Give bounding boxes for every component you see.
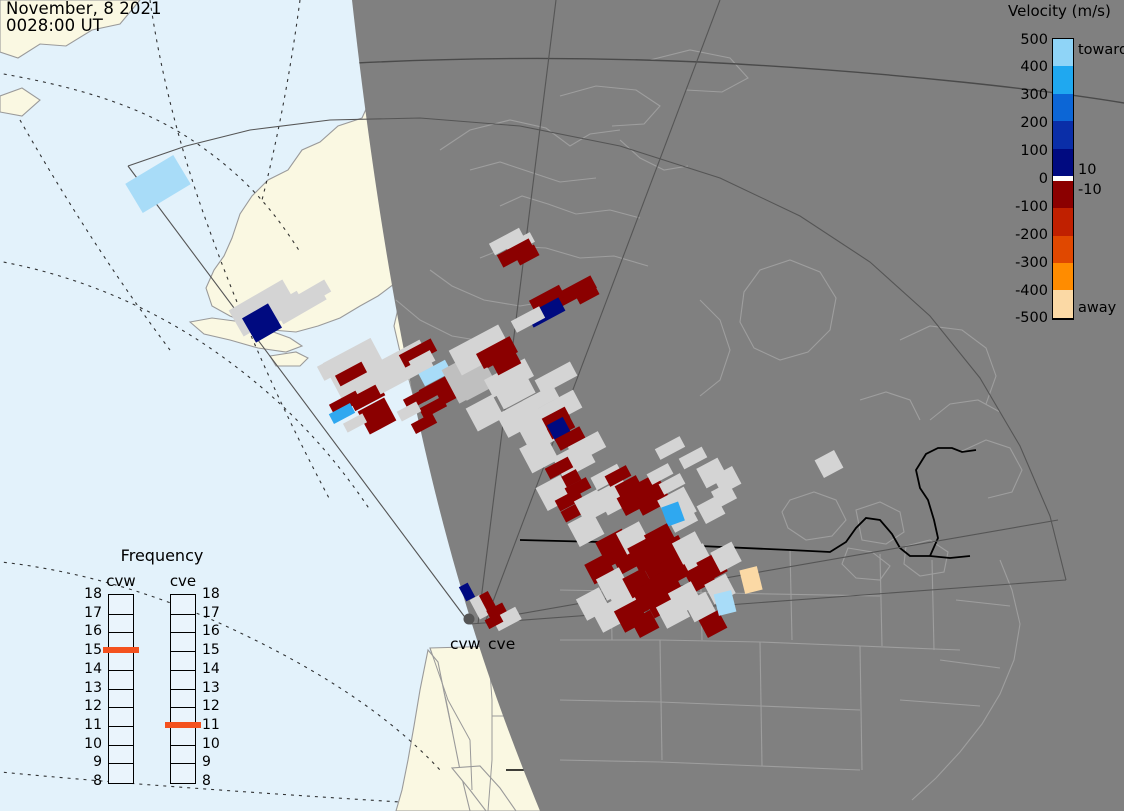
frequency-marker-cve [165,722,201,728]
frequency-tick-cve-14: 14 [202,661,220,677]
velocity-cell [815,450,844,478]
frequency-divider [171,689,195,690]
colorbar-away-label: away [1078,300,1116,316]
frequency-tick-cve-9: 9 [202,754,211,770]
colorbar-tick-500: 500 [988,32,1048,48]
radar-map-plot: November, 8 2021 0028:00 UT Velocity (m/… [0,0,1124,811]
frequency-tick-cvw-17: 17 [78,605,102,621]
velocity-cell [739,566,762,594]
plot-time: 0028:00 UT [6,18,162,35]
colorbar-tick--400: -400 [988,283,1048,299]
frequency-tick-cve-17: 17 [202,605,220,621]
colorbar-segment-toward-0 [1053,39,1073,67]
frequency-divider [109,726,133,727]
colorbar-segment-away-1 [1053,208,1073,236]
frequency-tick-cvw-16: 16 [78,623,102,639]
velocity-colorbar: Velocity (m/s) 5004003002001000-100-200-… [1000,0,1124,340]
frequency-tick-cvw-15: 15 [78,642,102,658]
colorbar-toward-label: toward [1078,42,1124,58]
frequency-tick-cve-11: 11 [202,717,220,733]
colorbar-segment-away-2 [1053,236,1073,264]
frequency-divider [109,689,133,690]
velocity-cell [511,306,545,333]
colorbar-tick-300: 300 [988,87,1048,103]
colorbar-negative-threshold-label: -10 [1078,182,1102,198]
colorbar-tick-0: 0 [988,171,1048,187]
frequency-tick-cvw-11: 11 [78,717,102,733]
frequency-label-cvw: cvw [98,572,144,590]
frequency-legend: Frequency cvw18171615141312111098cve1817… [82,546,242,796]
frequency-tick-cve-10: 10 [202,736,220,752]
frequency-bar-cve [170,594,196,784]
frequency-divider [171,651,195,652]
frequency-divider [171,614,195,615]
frequency-divider [171,745,195,746]
frequency-tick-cve-16: 16 [202,623,220,639]
frequency-divider [171,670,195,671]
frequency-divider [171,632,195,633]
frequency-tick-cvw-12: 12 [78,698,102,714]
colorbar-tick--100: -100 [988,199,1048,215]
colorbar-tick--200: -200 [988,227,1048,243]
velocity-cell [397,401,422,421]
frequency-divider [109,763,133,764]
colorbar-tick--500: -500 [988,310,1048,326]
colorbar-segment-toward-1 [1053,66,1073,94]
colorbar-title: Velocity (m/s) [1008,2,1124,20]
frequency-tick-cvw-13: 13 [78,680,102,696]
frequency-tick-cvw-8: 8 [78,773,102,789]
frequency-divider [171,707,195,708]
frequency-tick-cve-12: 12 [202,698,220,714]
frequency-divider [171,763,195,764]
velocity-cell [411,413,437,434]
colorbar-segment-toward-2 [1053,94,1073,122]
velocity-cell [125,155,191,213]
frequency-divider [109,707,133,708]
colorbar-segment-toward-3 [1053,121,1073,149]
frequency-divider [109,670,133,671]
frequency-divider [109,745,133,746]
colorbar-segment-away-0 [1053,181,1073,209]
frequency-divider [109,614,133,615]
frequency-tick-cve-8: 8 [202,773,211,789]
radar-site-label-cve: cve [488,635,515,653]
frequency-divider [109,632,133,633]
frequency-tick-cve-13: 13 [202,680,220,696]
frequency-tick-cvw-14: 14 [78,661,102,677]
frequency-tick-cvw-18: 18 [78,586,102,602]
frequency-bar-cvw [108,594,134,784]
colorbar-tick-100: 100 [988,143,1048,159]
plot-timestamp: November, 8 2021 0028:00 UT [6,1,162,35]
colorbar-gradient [1052,38,1074,320]
colorbar-tick--300: -300 [988,255,1048,271]
frequency-tick-cvw-10: 10 [78,736,102,752]
colorbar-tick-200: 200 [988,115,1048,131]
frequency-tick-cve-15: 15 [202,642,220,658]
frequency-legend-title: Frequency [82,546,242,565]
radar-site-label-cvw: cvw [450,635,480,653]
frequency-tick-cve-18: 18 [202,586,220,602]
colorbar-positive-threshold-label: 10 [1078,162,1096,178]
colorbar-segment-toward-4 [1053,149,1073,177]
colorbar-segment-away-4 [1053,290,1073,317]
colorbar-tick-400: 400 [988,59,1048,75]
colorbar-segment-away-3 [1053,263,1073,291]
frequency-marker-cvw [103,647,139,653]
frequency-label-cve: cve [160,572,206,590]
frequency-tick-cvw-9: 9 [78,754,102,770]
